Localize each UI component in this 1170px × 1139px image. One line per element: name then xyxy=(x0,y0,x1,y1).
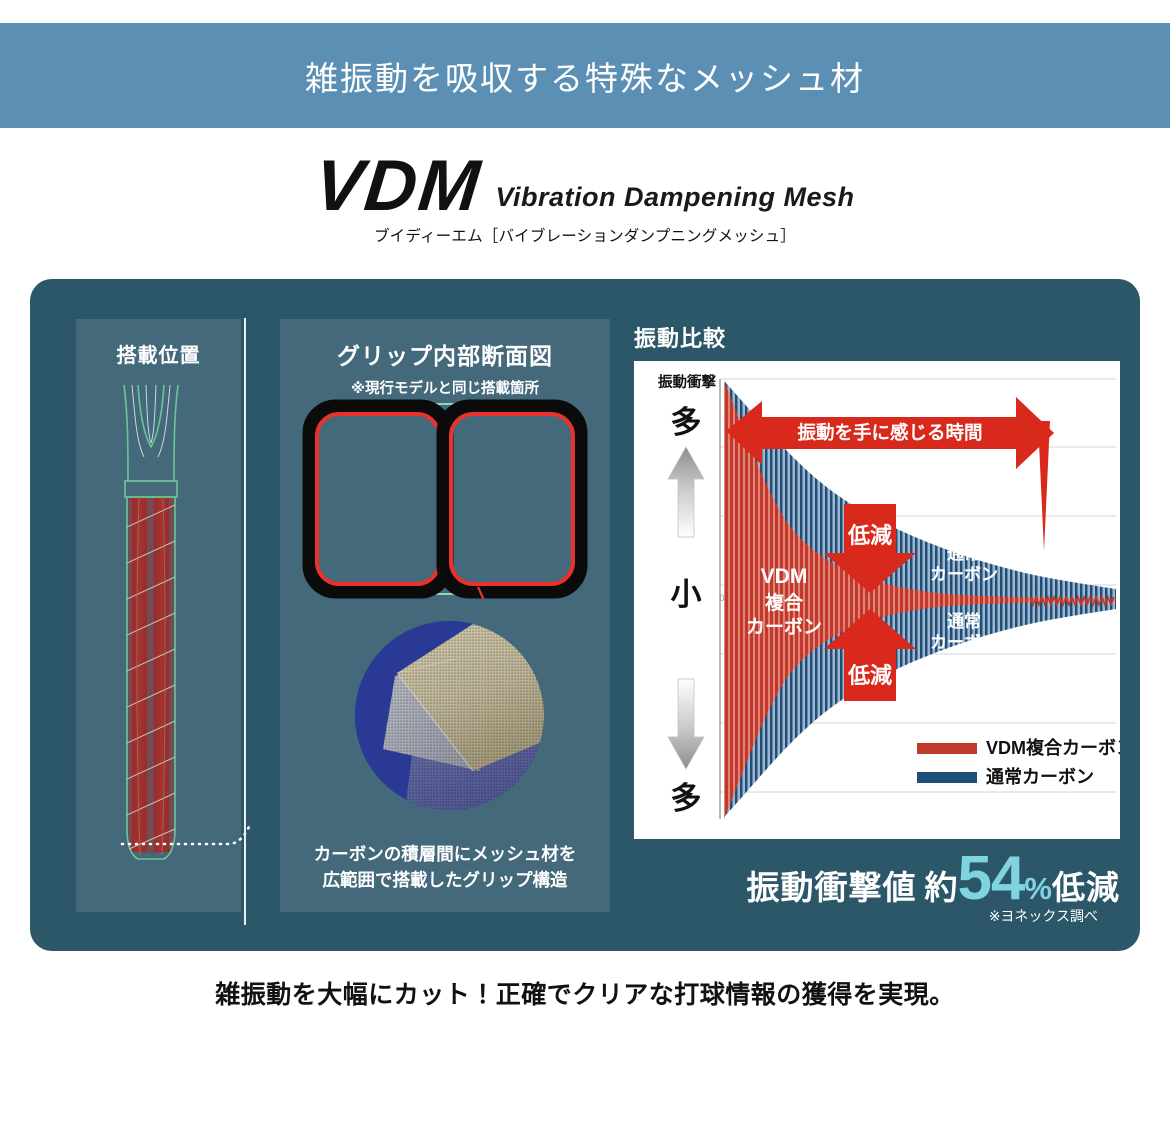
logo-row: VDM Vibration Dampening Mesh xyxy=(0,152,1170,220)
mesh-photo-graphic xyxy=(355,621,544,810)
svg-text:低減: 低減 xyxy=(847,663,892,688)
vdm-wordmark: VDM xyxy=(312,152,485,220)
chart-canvas: 0 1000 2000 3000 4000 5000 xyxy=(634,361,1120,839)
panel-divider xyxy=(244,318,246,925)
banner-title: 雑振動を吸収する特殊なメッシュ材 xyxy=(305,52,865,100)
page-root: 雑振動を吸収する特殊なメッシュ材 VDM Vibration Dampening… xyxy=(0,0,1170,1139)
result-approx-text: 約 xyxy=(924,869,957,906)
svg-text:カーボン: カーボン xyxy=(930,565,998,584)
svg-text:通常: 通常 xyxy=(947,611,981,631)
svg-text:VDM複合カーボン: VDM複合カーボン xyxy=(986,737,1120,758)
result-headline: 振動衝撃値約54%低減 xyxy=(634,854,1120,909)
result-number: 54 xyxy=(957,844,1024,913)
svg-text:カーボン: カーボン xyxy=(930,633,998,652)
bottom-caption: 雑振動を大幅にカット！正確でクリアな打球情報の獲得を実現。 xyxy=(0,975,1170,1011)
svg-text:カーボン: カーボン xyxy=(746,616,822,638)
mesh-photo-caption-line-2: 広範囲で搭載したグリップ構造 xyxy=(280,867,610,893)
mesh-photo-caption: カーボンの積層間にメッシュ材を 広範囲で搭載したグリップ構造 xyxy=(280,841,610,894)
grip-cross-section-diagram xyxy=(302,399,588,599)
svg-text:振動を手に感じる時間: 振動を手に感じる時間 xyxy=(797,422,982,443)
mounting-position-heading: 搭載位置 xyxy=(76,339,241,368)
cross-section-subheading: ※現行モデルと同じ搭載箇所 xyxy=(280,377,610,398)
cross-section-heading: グリップ内部断面図 xyxy=(280,337,610,371)
result-tail-text: 低減 xyxy=(1052,869,1120,906)
vdm-kana-name: ブイディーエム［バイブレーションダンプニングメッシュ］ xyxy=(0,224,1170,246)
vibration-comparison-chart: 0 1000 2000 3000 4000 5000 xyxy=(634,361,1120,839)
svg-text:通常: 通常 xyxy=(947,543,981,563)
chart-title: 振動比較 xyxy=(634,321,726,353)
svg-text:0: 0 xyxy=(719,593,724,603)
result-percent-sign: % xyxy=(1024,871,1052,906)
result-source-note: ※ヨネックス調べ xyxy=(634,906,1120,926)
svg-text:VDM: VDM xyxy=(761,565,808,588)
result-lead-text: 振動衝撃値 xyxy=(746,869,916,906)
y-label-mid: 小 xyxy=(671,577,702,612)
mesh-material-photo xyxy=(355,621,544,810)
mesh-photo-caption-line-1: カーボンの積層間にメッシュ材を xyxy=(280,841,610,867)
y-axis-title: 振動衝撃 xyxy=(658,373,716,391)
callout-leader-line xyxy=(120,819,260,859)
vdm-logo-block: VDM Vibration Dampening Mesh ブイディーエム［バイブ… xyxy=(0,152,1170,246)
svg-text:通常カーボン: 通常カーボン xyxy=(986,766,1094,787)
vdm-english-name: Vibration Dampening Mesh xyxy=(495,182,854,213)
main-content-panel: 搭載位置 xyxy=(30,279,1140,951)
y-label-top: 多 xyxy=(671,405,702,440)
svg-text:低減: 低減 xyxy=(847,523,892,548)
svg-text:複合: 複合 xyxy=(764,591,804,614)
header-banner: 雑振動を吸収する特殊なメッシュ材 xyxy=(0,23,1170,128)
y-label-bottom: 多 xyxy=(671,781,702,816)
